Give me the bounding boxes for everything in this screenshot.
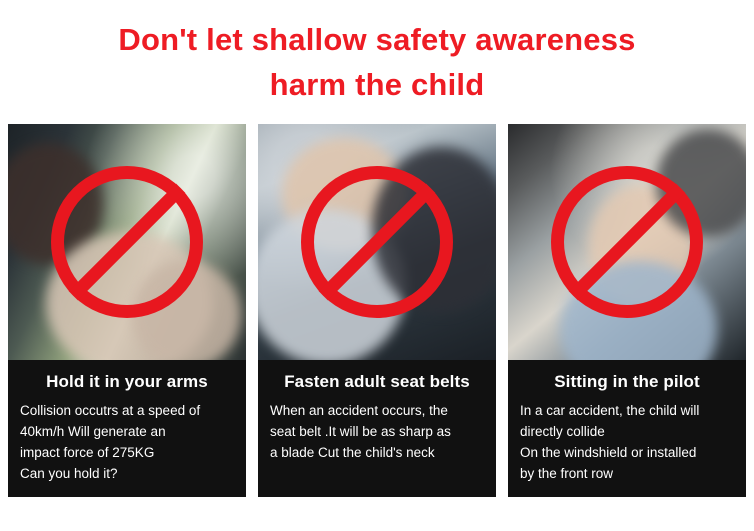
card-body: Collision occutrs at a speed of 40km/h W… (20, 401, 234, 485)
warning-card: Hold it in your arms Collision occutrs a… (8, 124, 246, 497)
no-entry-prohibition-icon (551, 166, 703, 318)
card-title: Fasten adult seat belts (270, 372, 484, 392)
card-title: Sitting in the pilot (520, 372, 734, 392)
card-body: When an accident occurs, the seat belt .… (270, 401, 484, 464)
no-entry-prohibition-icon (301, 166, 453, 318)
warning-card: Fasten adult seat belts When an accident… (258, 124, 496, 497)
card-body: In a car accident, the child will direct… (520, 401, 734, 485)
card-list: Hold it in your arms Collision occutrs a… (0, 108, 754, 497)
card-caption: Sitting in the pilot In a car accident, … (508, 360, 746, 497)
safety-poster: Don't let shallow safety awareness harm … (0, 0, 754, 531)
page-title: Don't let shallow safety awareness harm … (0, 0, 754, 108)
card-photo (258, 124, 496, 360)
card-photo (508, 124, 746, 360)
card-photo (8, 124, 246, 360)
warning-card: Sitting in the pilot In a car accident, … (508, 124, 746, 497)
card-caption: Fasten adult seat belts When an accident… (258, 360, 496, 476)
headline-line-2: harm the child (40, 63, 714, 108)
card-title: Hold it in your arms (20, 372, 234, 392)
card-caption: Hold it in your arms Collision occutrs a… (8, 360, 246, 497)
no-entry-prohibition-icon (51, 166, 203, 318)
headline-line-1: Don't let shallow safety awareness (40, 18, 714, 63)
